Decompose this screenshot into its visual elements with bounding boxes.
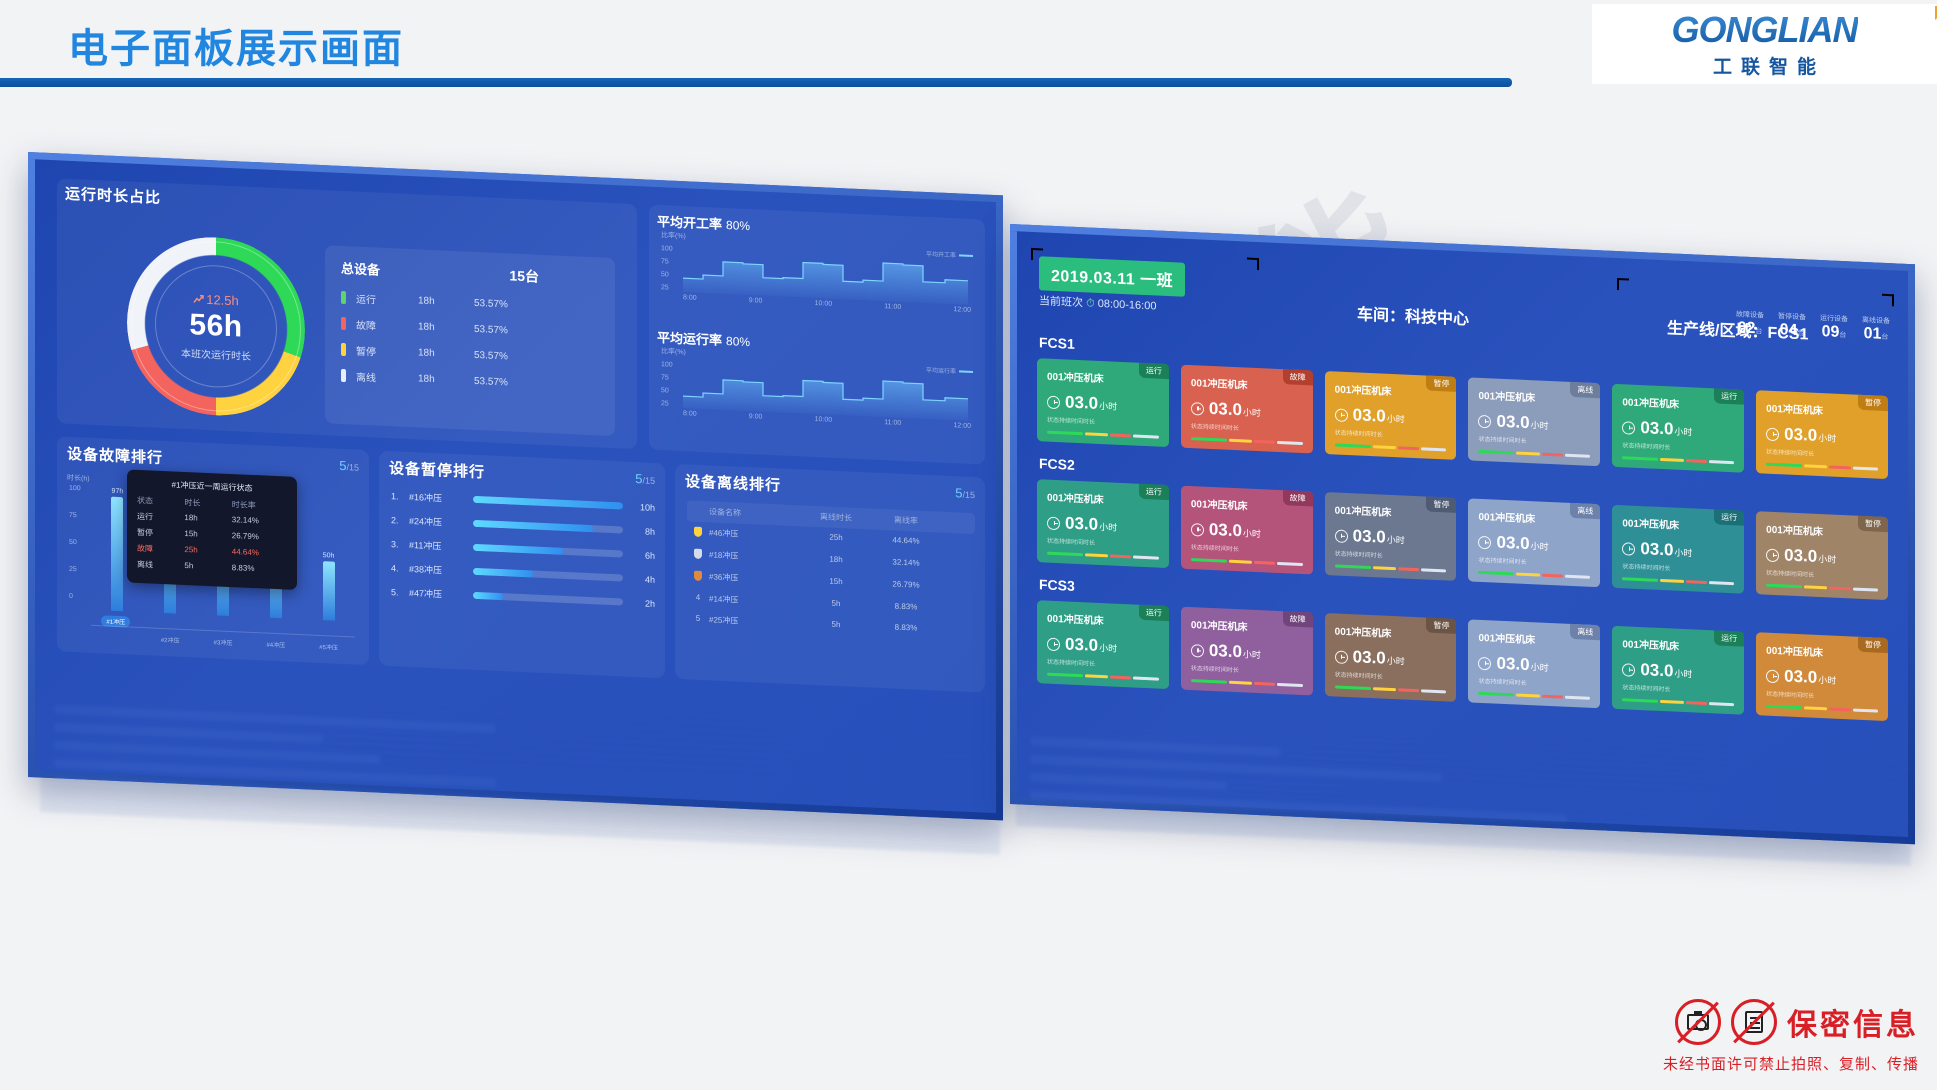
machine-duration: 03.0小时 bbox=[1766, 666, 1878, 691]
pause-rank-title: 设备暂停排行 bbox=[389, 457, 485, 482]
total-devices-label: 总设备 bbox=[341, 258, 380, 279]
machine-status-card[interactable]: 001冲压机床故障03.0小时状态持续时间时长 bbox=[1181, 486, 1313, 575]
status-bar-strip bbox=[1766, 463, 1878, 471]
tooltip-state: 离线 bbox=[137, 559, 184, 572]
fault-rank-panel: 设备故障排行 5/15 时长(h) 10075 5025 0 97h#1冲压80… bbox=[57, 436, 369, 665]
counter-value: 02台 bbox=[1738, 319, 1763, 337]
tooltip-rows: 运行18h32.14%暂停15h26.79%故障25h44.64%离线5h8.8… bbox=[137, 511, 287, 577]
machine-status-badge: 运行 bbox=[1139, 363, 1169, 379]
status-name: 暂停 bbox=[356, 343, 418, 361]
machine-status-card[interactable]: 001冲压机床暂停03.0小时状态持续时间时长 bbox=[1756, 632, 1888, 721]
status-bar-strip bbox=[1191, 679, 1303, 687]
runrate-chart: 平均运行率80% 比率(%) 10075 5025 8:009:00 10:00… bbox=[657, 327, 977, 360]
machine-status-badge: 暂停 bbox=[1858, 395, 1888, 411]
offline-rank-table: 设备名称 离线时长 离线率 #46冲压25h44.64%#18冲压18h32.1… bbox=[687, 500, 975, 642]
tooltip-hours: 18h bbox=[184, 513, 231, 526]
duration-value: 03.0小时 bbox=[1353, 405, 1405, 427]
status-hours: 18h bbox=[418, 373, 474, 386]
machine-duration: 03.0小时 bbox=[1335, 525, 1447, 550]
progress-fill bbox=[473, 592, 503, 600]
no-copy-icon bbox=[1731, 999, 1777, 1045]
machine-duration: 03.0小时 bbox=[1478, 653, 1590, 678]
status-bar-strip bbox=[1335, 443, 1447, 451]
duration-caption: 状态持续时间时长 bbox=[1478, 676, 1590, 690]
offline-duration: 18h bbox=[801, 553, 871, 568]
machine-status-card[interactable]: 001冲压机床运行03.0小时状态持续时间时长 bbox=[1037, 600, 1169, 689]
tooltip-rate: 44.64% bbox=[232, 547, 287, 560]
status-bar-strip bbox=[1047, 673, 1159, 681]
rank-index: 2. bbox=[391, 515, 409, 526]
tooltip-hours: 25h bbox=[184, 545, 231, 558]
donut-delta-value: 12.5h bbox=[206, 291, 239, 307]
status-legend-row: 暂停18h53.57% bbox=[341, 342, 599, 368]
machine-status-card[interactable]: 001冲压机床运行03.0小时状态持续时间时长 bbox=[1612, 626, 1744, 715]
tooltip-state: 运行 bbox=[137, 511, 184, 524]
utilization-rate-chart: 平均开工率80% 比率(%) 10075 5025 bbox=[657, 211, 977, 244]
machine-duration: 03.0小时 bbox=[1766, 424, 1878, 449]
fault-bar-value: 50h bbox=[314, 552, 344, 560]
offline-table-body: #46冲压25h44.64%#18冲压18h32.14%#36冲压15h26.7… bbox=[687, 521, 975, 642]
machine-status-card[interactable]: 001冲压机床离线03.0小时状态持续时间时长 bbox=[1468, 498, 1600, 587]
duration-value: 03.0小时 bbox=[1353, 526, 1405, 548]
duration-value: 03.0小时 bbox=[1065, 634, 1117, 656]
machine-status-badge: 暂停 bbox=[1858, 516, 1888, 532]
counter-value: 09台 bbox=[1822, 323, 1847, 341]
rank-index bbox=[687, 548, 709, 561]
duration-caption: 状态持续时间时长 bbox=[1622, 440, 1734, 454]
clock-icon bbox=[1335, 529, 1348, 543]
clock-icon bbox=[1622, 663, 1635, 677]
machine-groups: FCS1001冲压机床运行03.0小时状态持续时间时长001冲压机床故障03.0… bbox=[1017, 333, 1908, 722]
machine-status-badge: 离线 bbox=[1570, 624, 1600, 640]
tooltip-hours: 5h bbox=[184, 561, 231, 574]
machine-duration: 03.0小时 bbox=[1191, 398, 1303, 423]
machine-group: FCS2001冲压机床运行03.0小时状态持续时间时长001冲压机床故障03.0… bbox=[1017, 454, 1908, 601]
status-bar-strip bbox=[1622, 577, 1734, 585]
fault-y-axis-label: 时长(h) bbox=[67, 473, 90, 484]
trend-up-icon bbox=[193, 294, 204, 303]
device-summary-card: 总设备 15台 运行18h53.57%故障18h53.57%暂停18h53.57… bbox=[325, 245, 615, 436]
progress-fill bbox=[473, 520, 593, 532]
device-name: #14冲压 bbox=[709, 593, 801, 608]
donut-total-hours: 56h bbox=[189, 308, 242, 344]
pause-rank-item[interactable]: 5.#47冲压2h bbox=[391, 585, 655, 610]
offline-rank-panel: 设备离线排行 5/15 设备名称 离线时长 离线率 #46冲压25h44.64%… bbox=[675, 464, 985, 693]
duration-value: 03.0小时 bbox=[1784, 666, 1836, 688]
progress-track bbox=[473, 520, 623, 534]
clock-icon bbox=[1191, 402, 1204, 416]
corner-bracket bbox=[1617, 278, 1629, 291]
clock-icon bbox=[1335, 650, 1348, 664]
status-name: 运行 bbox=[356, 291, 418, 309]
fault-rank-title: 设备故障排行 bbox=[67, 443, 163, 468]
machine-status-badge: 离线 bbox=[1570, 382, 1600, 398]
machine-status-card[interactable]: 001冲压机床运行03.0小时状态持续时间时长 bbox=[1612, 505, 1744, 594]
device-name: #25冲压 bbox=[709, 614, 801, 629]
fault-detail-tooltip: #1冲压近一周运行状态 状态 时长 时长率 运行18h32.14%暂停15h26… bbox=[127, 469, 297, 590]
machine-duration: 03.0小时 bbox=[1047, 392, 1159, 417]
rank-index: 5. bbox=[391, 587, 409, 598]
current-shift-info: 当前班次 ⏱ 08:00-16:00 bbox=[1039, 292, 1156, 313]
status-bar-strip bbox=[1478, 450, 1590, 458]
pause-hours: 2h bbox=[631, 597, 655, 608]
offline-rank-count: 5/15 bbox=[955, 485, 975, 501]
tooltip-data-row: 暂停15h26.79% bbox=[137, 527, 287, 545]
tooltip-title: #1冲压近一周运行状态 bbox=[137, 478, 287, 496]
runtime-panel-title: 运行时长占比 bbox=[65, 183, 161, 208]
clock-icon bbox=[1766, 548, 1779, 562]
machine-duration: 03.0小时 bbox=[1478, 411, 1590, 436]
utilization-area-plot bbox=[683, 230, 968, 305]
left-display-screen: 运行时长占比 12.5h 56h 本班次运行时长 bbox=[28, 152, 1003, 820]
duration-caption: 状态持续时间时长 bbox=[1047, 657, 1159, 671]
machine-duration: 03.0小时 bbox=[1478, 532, 1590, 557]
confidential-label: 保密信息 bbox=[1787, 1000, 1919, 1044]
offline-rate: 8.83% bbox=[871, 601, 941, 615]
duration-value: 03.0小时 bbox=[1784, 424, 1836, 446]
machine-status-badge: 暂停 bbox=[1426, 376, 1456, 392]
status-legend-row: 离线18h53.57% bbox=[341, 368, 599, 394]
status-bar-strip bbox=[1191, 437, 1303, 445]
progress-fill bbox=[473, 544, 563, 555]
duration-caption: 状态持续时间时长 bbox=[1191, 542, 1303, 556]
rank-index bbox=[687, 570, 709, 583]
status-name: 离线 bbox=[356, 369, 418, 387]
machine-status-badge: 运行 bbox=[1714, 630, 1744, 646]
duration-value: 03.0小时 bbox=[1640, 660, 1692, 682]
machine-duration: 03.0小时 bbox=[1047, 634, 1159, 659]
status-bar-strip bbox=[1478, 692, 1590, 700]
fault-bar-category: #3冲压 bbox=[200, 637, 246, 648]
rank-index: 4 bbox=[687, 592, 709, 604]
status-percent: 53.57% bbox=[474, 376, 534, 390]
machine-status-card[interactable]: 001冲压机床暂停03.0小时状态持续时间时长 bbox=[1756, 511, 1888, 600]
duration-caption: 状态持续时间时长 bbox=[1766, 447, 1878, 461]
duration-value: 03.0小时 bbox=[1496, 533, 1548, 555]
status-percent: 53.57% bbox=[474, 324, 534, 338]
fault-rank-count: 5/15 bbox=[339, 458, 359, 474]
pause-rank-item[interactable]: 2.#24冲压8h bbox=[391, 513, 655, 538]
duration-caption: 状态持续时间时长 bbox=[1047, 536, 1159, 550]
status-bar-strip bbox=[1047, 431, 1159, 439]
machine-duration: 03.0小时 bbox=[1335, 404, 1447, 429]
no-photo-icon bbox=[1675, 999, 1721, 1045]
medal-icon bbox=[694, 571, 702, 581]
status-hours: 18h bbox=[418, 295, 474, 308]
counter-value: 04台 bbox=[1780, 321, 1805, 339]
clock-icon bbox=[1047, 516, 1060, 530]
fault-bar-category: #2冲压 bbox=[147, 634, 193, 645]
duration-value: 03.0小时 bbox=[1353, 647, 1405, 669]
device-name: #18冲压 bbox=[709, 549, 801, 565]
duration-caption: 状态持续时间时长 bbox=[1622, 561, 1734, 575]
machine-status-badge: 故障 bbox=[1283, 490, 1313, 506]
progress-fill bbox=[473, 496, 623, 510]
machine-status-card[interactable]: 001冲压机床运行03.0小时状态持续时间时长 bbox=[1037, 358, 1169, 447]
machine-status-card[interactable]: 001冲压机床离线03.0小时状态持续时间时长 bbox=[1468, 377, 1600, 466]
tooltip-rate: 8.83% bbox=[232, 563, 287, 576]
corner-bracket bbox=[1247, 258, 1259, 271]
tooltip-data-row: 运行18h32.14% bbox=[137, 511, 287, 529]
offline-rate: 44.64% bbox=[871, 535, 941, 550]
confidential-notice: 保密信息 未经书面许可禁止拍照、复制、传播 bbox=[1663, 999, 1919, 1074]
offline-rate: 8.83% bbox=[871, 622, 941, 636]
machine-status-card[interactable]: 001冲压机床故障03.0小时状态持续时间时长 bbox=[1181, 607, 1313, 696]
clock-icon bbox=[1047, 395, 1060, 409]
medal-icon bbox=[694, 527, 702, 537]
machine-status-card[interactable]: 001冲压机床暂停03.0小时状态持续时间时长 bbox=[1325, 492, 1457, 581]
medal-icon bbox=[694, 549, 702, 559]
duration-caption: 状态持续时间时长 bbox=[1191, 421, 1303, 435]
status-percent: 53.57% bbox=[474, 350, 534, 364]
display-stage: 运行时长占比 12.5h 56h 本班次运行时长 bbox=[0, 0, 1937, 1090]
duration-caption: 状态持续时间时长 bbox=[1766, 568, 1878, 582]
tooltip-header-row: 状态 时长 时长率 bbox=[137, 495, 287, 513]
status-color-chip bbox=[341, 317, 346, 330]
machine-status-badge: 暂停 bbox=[1426, 497, 1456, 513]
tooltip-data-row: 离线5h8.83% bbox=[137, 559, 287, 577]
device-name: #16冲压 bbox=[409, 490, 473, 506]
donut-delta: 12.5h bbox=[193, 291, 239, 308]
fault-bar bbox=[111, 496, 123, 611]
machine-status-badge: 运行 bbox=[1714, 509, 1744, 525]
corner-bracket bbox=[1882, 294, 1894, 307]
status-bar-strip bbox=[1047, 552, 1159, 560]
machine-status-card[interactable]: 001冲压机床暂停03.0小时状态持续时间时长 bbox=[1325, 613, 1457, 702]
machine-duration: 03.0小时 bbox=[1191, 640, 1303, 665]
machine-duration: 03.0小时 bbox=[1766, 545, 1878, 570]
progress-track bbox=[473, 568, 623, 582]
rank-index: 3. bbox=[391, 539, 409, 550]
machine-duration: 03.0小时 bbox=[1047, 513, 1159, 538]
device-name: #36冲压 bbox=[709, 571, 801, 587]
clock-icon bbox=[1622, 421, 1635, 435]
duration-value: 03.0小时 bbox=[1209, 399, 1261, 421]
machine-duration: 03.0小时 bbox=[1622, 659, 1734, 684]
machine-duration: 03.0小时 bbox=[1622, 538, 1734, 563]
machine-status-badge: 运行 bbox=[1139, 605, 1169, 621]
progress-track bbox=[473, 592, 623, 606]
tooltip-rate: 26.79% bbox=[232, 531, 287, 544]
pause-rank-item[interactable]: 3.#11冲压6h bbox=[391, 537, 655, 562]
progress-track bbox=[473, 544, 623, 558]
machine-status-card[interactable]: 001冲压机床暂停03.0小时状态持续时间时长 bbox=[1325, 371, 1457, 460]
offline-duration: 25h bbox=[801, 531, 871, 546]
tooltip-hours: 15h bbox=[184, 529, 231, 542]
clock-icon bbox=[1335, 408, 1348, 422]
offline-rate: 26.79% bbox=[871, 579, 941, 594]
pause-rank-item[interactable]: 4.#38冲压4h bbox=[391, 561, 655, 586]
status-hours: 18h bbox=[418, 347, 474, 360]
counter-value: 01台 bbox=[1864, 325, 1889, 343]
machine-status-badge: 运行 bbox=[1139, 484, 1169, 500]
machine-status-card[interactable]: 001冲压机床离线03.0小时状态持续时间时长 bbox=[1468, 619, 1600, 708]
duration-value: 03.0小时 bbox=[1209, 520, 1261, 542]
rank-index: 4. bbox=[391, 563, 409, 574]
device-name: #24冲压 bbox=[409, 514, 473, 530]
right-display-screen: 2019.03.11 一班 当前班次 ⏱ 08:00-16:00 车间：科技中心… bbox=[1010, 224, 1915, 844]
duration-value: 03.0小时 bbox=[1209, 641, 1261, 663]
workshop-label: 车间：科技中心 bbox=[1357, 300, 1469, 329]
duration-value: 03.0小时 bbox=[1065, 513, 1117, 535]
status-bar-strip bbox=[1766, 705, 1878, 713]
shift-label: 当前班次 bbox=[1039, 295, 1083, 309]
duration-value: 03.0小时 bbox=[1496, 654, 1548, 676]
machine-status-badge: 暂停 bbox=[1426, 618, 1456, 634]
clock-icon bbox=[1191, 523, 1204, 537]
shift-time: 08:00-16:00 bbox=[1098, 298, 1157, 313]
confidential-note: 未经书面许可禁止拍照、复制、传播 bbox=[1663, 1053, 1919, 1074]
duration-caption: 状态持续时间时长 bbox=[1047, 415, 1159, 429]
tooltip-data-row: 故障25h44.64% bbox=[137, 543, 287, 561]
utilization-title-pct: 80% bbox=[726, 218, 750, 233]
clock-icon bbox=[1191, 644, 1204, 658]
duration-caption: 状态持续时间时长 bbox=[1335, 427, 1447, 441]
pause-rank-item[interactable]: 1.#16冲压10h bbox=[391, 489, 655, 514]
offline-duration: 5h bbox=[801, 597, 871, 611]
clock-icon bbox=[1478, 535, 1491, 549]
clock-icon bbox=[1622, 542, 1635, 556]
status-color-chip bbox=[341, 291, 346, 304]
status-counter: 离线设备01台 bbox=[1862, 315, 1890, 344]
duration-value: 03.0小时 bbox=[1496, 412, 1548, 434]
machine-status-badge: 故障 bbox=[1283, 369, 1313, 385]
progress-track bbox=[473, 496, 623, 510]
duration-caption: 状态持续时间时长 bbox=[1766, 689, 1878, 703]
tooltip-state: 故障 bbox=[137, 543, 184, 556]
runrate-area-plot bbox=[683, 346, 968, 421]
rank-index bbox=[687, 526, 709, 539]
clock-icon bbox=[1478, 414, 1491, 428]
duration-caption: 状态持续时间时长 bbox=[1622, 682, 1734, 696]
fault-y-ticks: 10075 5025 0 bbox=[69, 485, 81, 621]
status-bar-strip bbox=[1478, 571, 1590, 579]
pause-rank-list: 1.#16冲压10h2.#24冲压8h3.#11冲压6h4.#38冲压4h5.#… bbox=[391, 489, 655, 621]
status-name: 故障 bbox=[356, 317, 418, 335]
fault-bar-category: #4冲压 bbox=[253, 639, 299, 650]
clock-icon bbox=[1478, 656, 1491, 670]
tooltip-rate: 32.14% bbox=[232, 515, 287, 528]
machine-status-badge: 暂停 bbox=[1858, 637, 1888, 653]
rank-index: 5 bbox=[687, 613, 709, 625]
runtime-donut-chart: 12.5h 56h 本班次运行时长 bbox=[127, 233, 305, 419]
status-color-chip bbox=[341, 343, 346, 356]
pause-hours: 10h bbox=[631, 501, 655, 512]
machine-duration: 03.0小时 bbox=[1191, 519, 1303, 544]
pause-hours: 6h bbox=[631, 549, 655, 560]
status-bar-strip bbox=[1335, 685, 1447, 693]
clock-icon bbox=[1047, 637, 1060, 651]
rate-charts-panel: 平均开工率80% 比率(%) 10075 5025 bbox=[649, 205, 985, 465]
machine-status-card[interactable]: 001冲压机床运行03.0小时状态持续时间时长 bbox=[1037, 479, 1169, 568]
progress-fill bbox=[473, 568, 533, 578]
status-bar-strip bbox=[1622, 456, 1734, 464]
runrate-title-pct: 80% bbox=[726, 334, 750, 349]
offline-rank-title: 设备离线排行 bbox=[685, 470, 781, 495]
offline-duration: 15h bbox=[801, 575, 871, 590]
status-legend-row: 故障18h53.57% bbox=[341, 316, 599, 342]
tooltip-state: 暂停 bbox=[137, 527, 184, 540]
fault-bar bbox=[323, 561, 335, 621]
shift-date-badge: 2019.03.11 一班 bbox=[1039, 256, 1185, 297]
machine-status-card[interactable]: 001冲压机床运行03.0小时状态持续时间时长 bbox=[1612, 384, 1744, 473]
machine-group: FCS3001冲压机床运行03.0小时状态持续时间时长001冲压机床故障03.0… bbox=[1017, 575, 1908, 722]
device-name: #47冲压 bbox=[409, 586, 473, 602]
machine-duration: 03.0小时 bbox=[1335, 646, 1447, 671]
device-name: #38冲压 bbox=[409, 562, 473, 578]
duration-caption: 状态持续时间时长 bbox=[1335, 548, 1447, 562]
device-name: #11冲压 bbox=[409, 538, 473, 554]
machine-duration: 03.0小时 bbox=[1622, 417, 1734, 442]
clock-icon: ⏱ bbox=[1086, 297, 1095, 309]
clock-icon bbox=[1766, 669, 1779, 683]
pause-hours: 4h bbox=[631, 573, 655, 584]
runtime-ratio-panel: 运行时长占比 12.5h 56h 本班次运行时长 bbox=[57, 178, 637, 449]
duration-caption: 状态持续时间时长 bbox=[1191, 663, 1303, 677]
machine-status-card[interactable]: 001冲压机床故障03.0小时状态持续时间时长 bbox=[1181, 365, 1313, 454]
status-bar-strip bbox=[1622, 698, 1734, 706]
status-counter: 暂停设备04台 bbox=[1778, 311, 1806, 340]
status-bar-strip bbox=[1766, 584, 1878, 592]
pause-rank-count: 5/15 bbox=[635, 471, 655, 487]
offline-rate: 32.14% bbox=[871, 557, 941, 572]
status-legend-list: 运行18h53.57%故障18h53.57%暂停18h53.57%离线18h53… bbox=[341, 290, 599, 394]
status-color-chip bbox=[341, 369, 346, 382]
duration-caption: 状态持续时间时长 bbox=[1335, 669, 1447, 683]
status-legend-row: 运行18h53.57% bbox=[341, 290, 599, 316]
pause-rank-panel: 设备暂停排行 5/15 1.#16冲压10h2.#24冲压8h3.#11冲压6h… bbox=[379, 451, 665, 679]
fault-bar-category: #5冲压 bbox=[306, 641, 352, 652]
donut-caption: 本班次运行时长 bbox=[181, 344, 251, 362]
status-percent: 53.57% bbox=[474, 298, 534, 312]
clock-icon bbox=[1766, 427, 1779, 441]
pause-hours: 8h bbox=[631, 525, 655, 536]
rank-index: 1. bbox=[391, 491, 409, 502]
duration-caption: 状态持续时间时长 bbox=[1478, 434, 1590, 448]
status-bar-strip bbox=[1191, 558, 1303, 566]
status-hours: 18h bbox=[418, 321, 474, 334]
status-counter: 运行设备09台 bbox=[1820, 313, 1848, 342]
duration-value: 03.0小时 bbox=[1784, 545, 1836, 567]
machine-status-badge: 故障 bbox=[1283, 611, 1313, 627]
duration-value: 03.0小时 bbox=[1640, 418, 1692, 440]
machine-status-card[interactable]: 001冲压机床暂停03.0小时状态持续时间时长 bbox=[1756, 390, 1888, 479]
duration-caption: 状态持续时间时长 bbox=[1478, 555, 1590, 569]
device-name: #46冲压 bbox=[709, 527, 801, 543]
status-bar-strip bbox=[1335, 564, 1447, 572]
duration-value: 03.0小时 bbox=[1065, 392, 1117, 414]
machine-status-badge: 离线 bbox=[1570, 503, 1600, 519]
total-devices-value: 15台 bbox=[509, 265, 539, 286]
duration-value: 03.0小时 bbox=[1640, 539, 1692, 561]
machine-status-badge: 运行 bbox=[1714, 388, 1744, 404]
offline-duration: 5h bbox=[801, 618, 871, 632]
status-counter: 故障设备02台 bbox=[1736, 309, 1764, 338]
